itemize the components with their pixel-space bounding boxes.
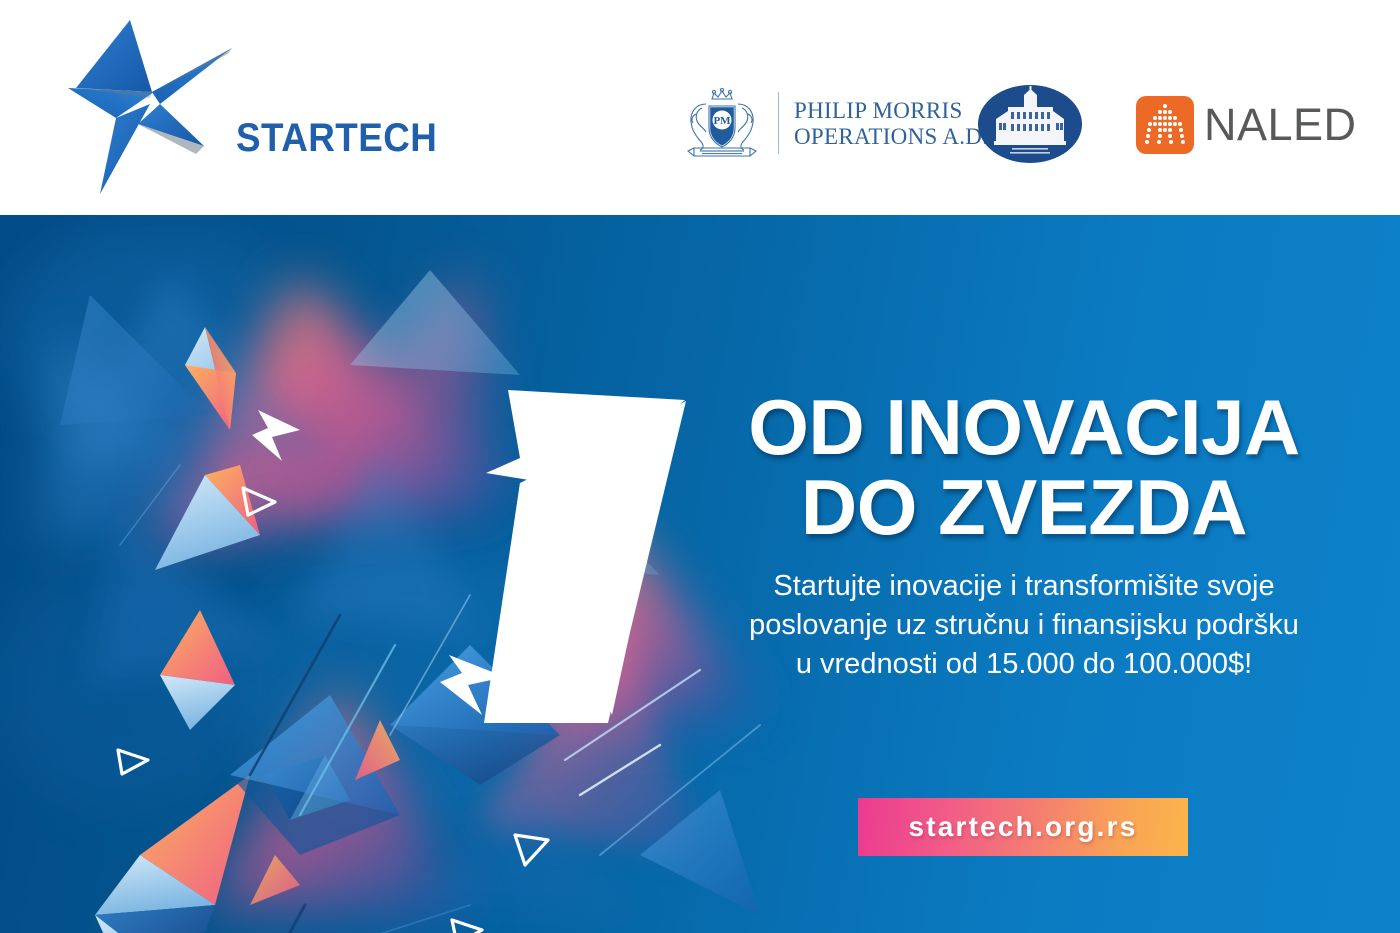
philip-morris-logo[interactable]: PM PHILIP MORRIS OPERATIONS A.D.	[678, 86, 946, 162]
subtitle-line-3: u vrednosti od 15.000 do 100.000$!	[700, 645, 1348, 684]
startech-wordmark: STARTECH	[236, 116, 437, 161]
philip-morris-line-2: OPERATIONS A.D.	[794, 124, 988, 150]
startech-logo[interactable]: STARTECH	[64, 18, 364, 198]
svg-text:PM: PM	[713, 115, 731, 127]
subtitle-line-2: poslovanje uz stručnu i finansijsku podr…	[700, 606, 1348, 645]
website-url-label: startech.org.rs	[908, 811, 1137, 843]
government-building-icon	[978, 85, 1082, 163]
website-url-button[interactable]: startech.org.rs	[858, 798, 1188, 856]
naled-wordmark: NALED	[1204, 99, 1357, 151]
subtitle-line-1: Startujte inovacije i transformišite svo…	[700, 567, 1348, 606]
philip-morris-crest-icon: PM	[678, 86, 766, 162]
logo-header-bar: STARTECH	[0, 0, 1400, 215]
startech-promo-banner: STARTECH	[0, 0, 1400, 933]
naled-network-mark-icon	[1136, 96, 1194, 154]
government-of-serbia-seal[interactable]	[978, 85, 1082, 163]
startech-star-icon	[64, 18, 234, 198]
subtitle: Startujte inovacije i transformišite svo…	[700, 567, 1348, 684]
philip-morris-wordmark: PHILIP MORRIS OPERATIONS A.D.	[794, 98, 988, 150]
headline: OD INOVACIJA DO ZVEZDA	[700, 387, 1348, 547]
naled-logo[interactable]: NALED	[1136, 96, 1346, 154]
philip-morris-divider	[778, 92, 779, 154]
philip-morris-line-1: PHILIP MORRIS	[794, 98, 988, 124]
headline-line-1: OD INOVACIJA	[700, 387, 1348, 467]
main-hero-panel: OD INOVACIJA DO ZVEZDA Startujte inovaci…	[0, 215, 1400, 933]
headline-line-2: DO ZVEZDA	[700, 467, 1348, 547]
